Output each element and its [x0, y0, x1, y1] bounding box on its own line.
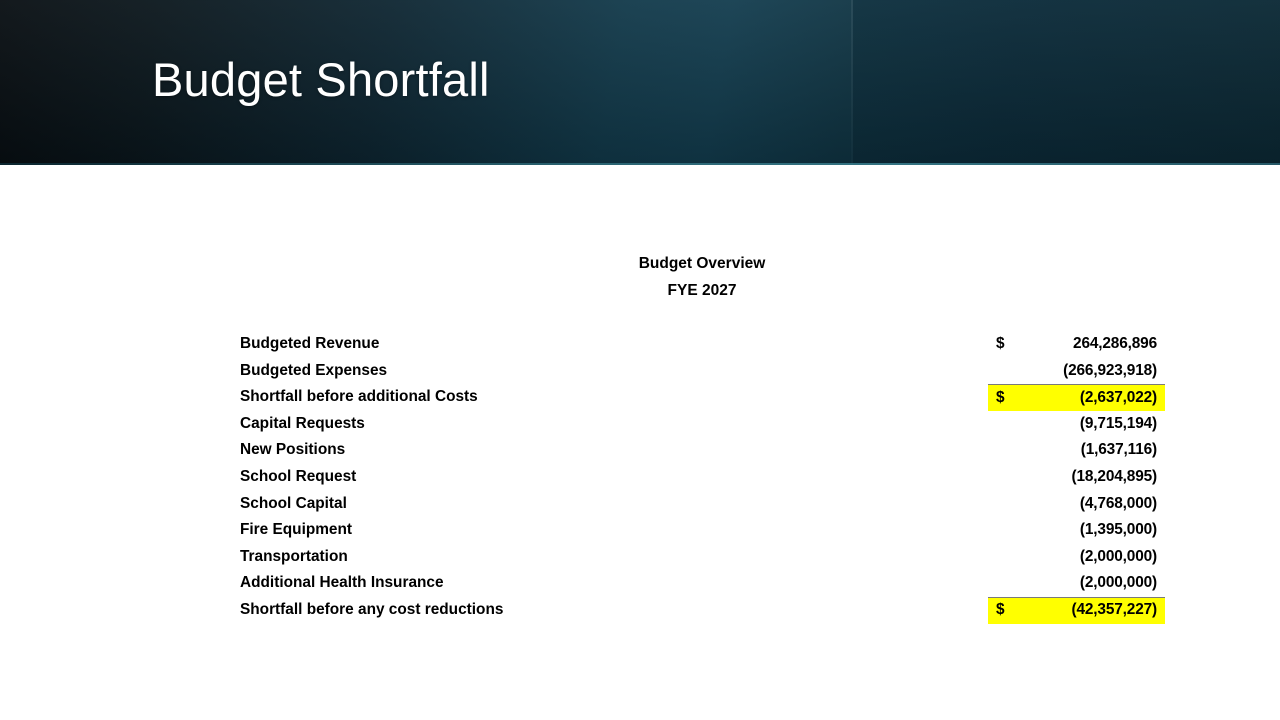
- row-amount: (18,204,895): [1005, 464, 1157, 491]
- table-row: Additional Health Insurance$(2,000,000): [240, 570, 1165, 597]
- table-row: Capital Requests$(9,715,194): [240, 411, 1165, 438]
- row-amount: (4,768,000): [1005, 491, 1157, 518]
- value-box: $(2,000,000): [988, 544, 1165, 571]
- highlighted-value-box: $(2,637,022): [988, 384, 1165, 411]
- table-row: Budgeted Expenses$(266,923,918): [240, 358, 1165, 385]
- value-box: $(1,637,116): [988, 437, 1165, 464]
- row-amount: (2,000,000): [1005, 544, 1157, 571]
- row-value-cell: $(42,357,227): [988, 597, 1165, 624]
- row-amount: (1,395,000): [1005, 517, 1157, 544]
- currency-symbol: $: [990, 597, 1005, 624]
- value-box: $(18,204,895): [988, 464, 1165, 491]
- table-row: Shortfall before any cost reductions$(42…: [240, 597, 1165, 624]
- value-box: $(9,715,194): [988, 411, 1165, 438]
- row-label: Budgeted Expenses: [240, 358, 987, 385]
- row-value-cell: $(1,637,116): [988, 437, 1165, 464]
- budget-table-body: Budgeted Revenue$264,286,896Budgeted Exp…: [240, 331, 1165, 624]
- table-row: Budgeted Revenue$264,286,896: [240, 331, 1165, 358]
- row-label: School Request: [240, 464, 987, 491]
- table-row: Fire Equipment$(1,395,000): [240, 517, 1165, 544]
- row-value-cell: $(18,204,895): [988, 464, 1165, 491]
- highlighted-value-box: $(42,357,227): [988, 597, 1165, 624]
- row-label: Shortfall before additional Costs: [240, 384, 987, 411]
- row-amount: (2,000,000): [1005, 570, 1157, 597]
- value-box: $(266,923,918): [988, 358, 1165, 385]
- header-divider-line: [851, 0, 853, 165]
- row-amount: (266,923,918): [1005, 358, 1157, 385]
- row-label: School Capital: [240, 491, 987, 518]
- row-value-cell: $(4,768,000): [988, 491, 1165, 518]
- row-label: Budgeted Revenue: [240, 331, 987, 358]
- row-value-cell: $264,286,896: [988, 331, 1165, 358]
- row-value-cell: $(2,637,022): [988, 384, 1165, 411]
- row-value-cell: $(266,923,918): [988, 358, 1165, 385]
- page-title: Budget Shortfall: [152, 50, 490, 110]
- row-label: New Positions: [240, 437, 987, 464]
- row-amount: (1,637,116): [1005, 437, 1157, 464]
- value-box: $264,286,896: [988, 331, 1165, 358]
- row-label: Shortfall before any cost reductions: [240, 597, 987, 624]
- currency-symbol: $: [990, 385, 1005, 412]
- value-box: $(2,000,000): [988, 570, 1165, 597]
- table-heading: Budget Overview FYE 2027: [562, 250, 842, 304]
- header-right-panel: [853, 0, 1280, 165]
- value-box: $(4,768,000): [988, 491, 1165, 518]
- table-heading-line2: FYE 2027: [562, 277, 842, 304]
- row-amount: 264,286,896: [1005, 331, 1157, 358]
- table-row: Transportation$(2,000,000): [240, 544, 1165, 571]
- row-value-cell: $(1,395,000): [988, 517, 1165, 544]
- table-heading-line1: Budget Overview: [562, 250, 842, 277]
- table-row: School Capital$(4,768,000): [240, 491, 1165, 518]
- row-amount: (9,715,194): [1005, 411, 1157, 438]
- row-value-cell: $(2,000,000): [988, 544, 1165, 571]
- row-amount: (2,637,022): [1005, 385, 1157, 412]
- table-row: New Positions$(1,637,116): [240, 437, 1165, 464]
- row-label: Transportation: [240, 544, 987, 571]
- table-row: School Request$(18,204,895): [240, 464, 1165, 491]
- row-amount: (42,357,227): [1005, 597, 1157, 624]
- row-label: Capital Requests: [240, 411, 987, 438]
- row-value-cell: $(2,000,000): [988, 570, 1165, 597]
- row-label: Fire Equipment: [240, 517, 987, 544]
- currency-symbol: $: [990, 331, 1005, 358]
- slide-header-banner: Budget Shortfall: [0, 0, 1280, 165]
- budget-table: Budgeted Revenue$264,286,896Budgeted Exp…: [240, 331, 1165, 624]
- row-value-cell: $(9,715,194): [988, 411, 1165, 438]
- value-box: $(1,395,000): [988, 517, 1165, 544]
- row-label: Additional Health Insurance: [240, 570, 987, 597]
- budget-overview-section: Budget Overview FYE 2027 Budgeted Revenu…: [0, 165, 1280, 720]
- table-row: Shortfall before additional Costs$(2,637…: [240, 384, 1165, 411]
